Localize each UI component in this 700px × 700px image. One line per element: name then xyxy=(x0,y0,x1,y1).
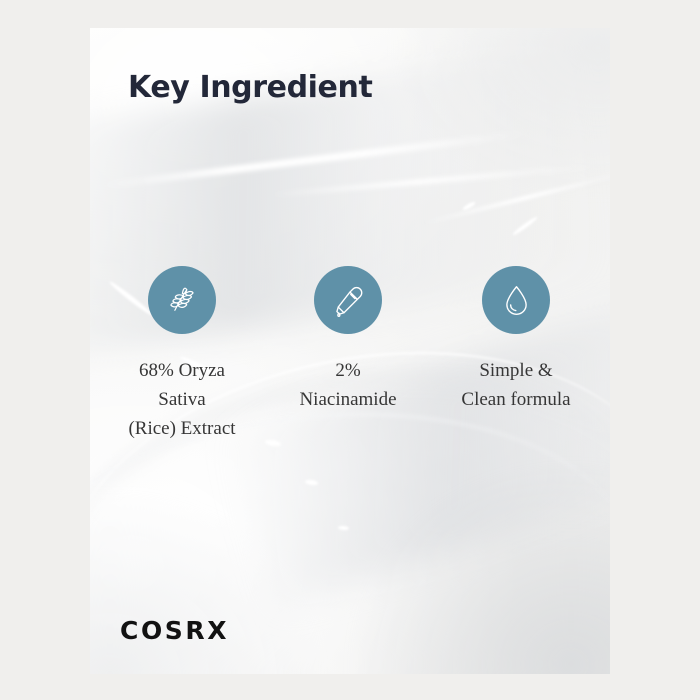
panel-content: Key Ingredient xyxy=(90,28,610,674)
cream-texture-panel: Key Ingredient xyxy=(90,28,610,674)
dropper-icon xyxy=(330,282,366,318)
feature-list: 68% Oryza Sativa (Rice) Extract xyxy=(90,266,610,443)
feature-icon-badge xyxy=(482,266,550,334)
feature-caption: 2% Niacinamide xyxy=(299,356,396,414)
feature-item-rice-extract: 68% Oryza Sativa (Rice) Extract xyxy=(99,266,265,443)
feature-icon-badge xyxy=(314,266,382,334)
brand-wordmark: COSRX xyxy=(120,616,229,645)
rice-plant-icon xyxy=(163,281,201,319)
feature-item-clean-formula: Simple & Clean formula xyxy=(433,266,599,443)
page-title: Key Ingredient xyxy=(128,70,372,105)
feature-icon-badge xyxy=(148,266,216,334)
product-infographic: Key Ingredient xyxy=(0,0,700,700)
water-drop-icon xyxy=(500,284,533,317)
feature-caption: 68% Oryza Sativa (Rice) Extract xyxy=(128,356,235,443)
feature-item-niacinamide: 2% Niacinamide xyxy=(265,266,431,443)
feature-caption: Simple & Clean formula xyxy=(461,356,570,414)
